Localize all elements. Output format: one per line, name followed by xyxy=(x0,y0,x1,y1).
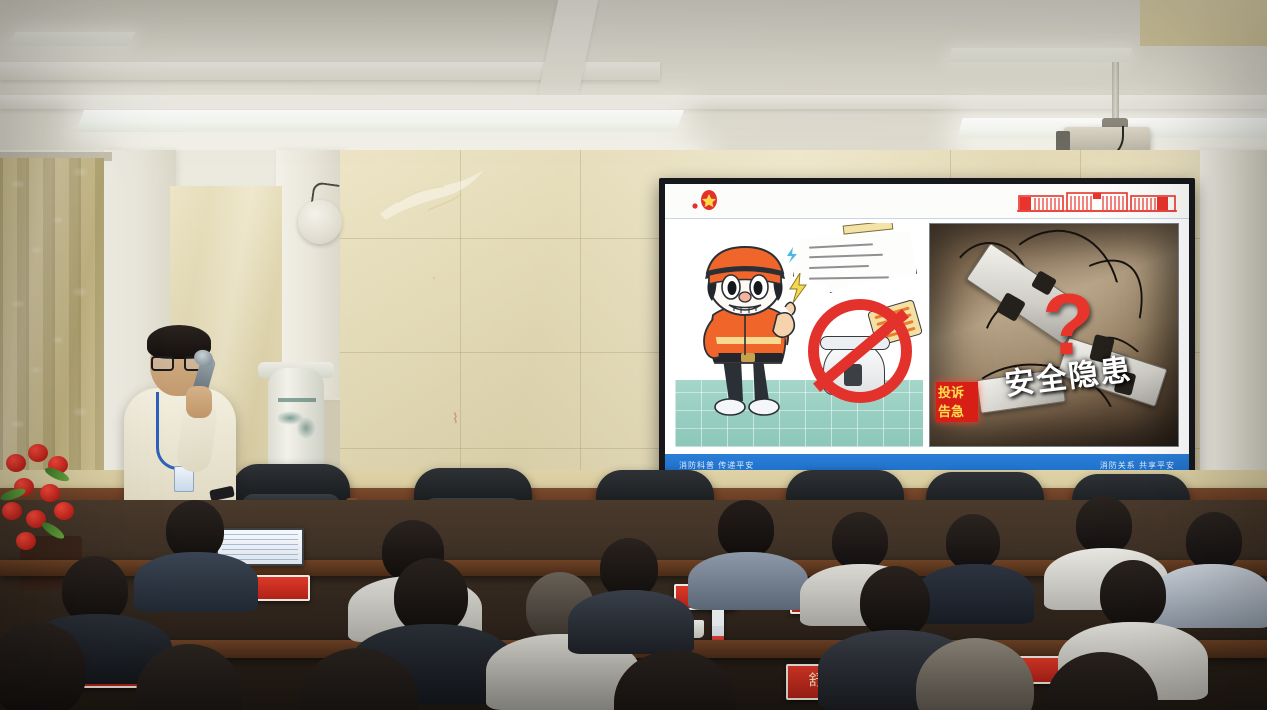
bubble-tab xyxy=(843,223,894,235)
presentation-screen[interactable]: ? 安全隐患 投诉告急 消防科普 传递平安 消防关系 共享平安 xyxy=(659,178,1195,482)
hazard-photo: ? 安全隐患 投诉告急 xyxy=(929,223,1179,447)
lightning-bolt-icon xyxy=(787,273,809,303)
vase-painting xyxy=(278,392,316,446)
party-emblem-icon xyxy=(691,190,719,214)
presenter-hand xyxy=(186,386,212,418)
tv-program-logo: 投诉告急 xyxy=(936,382,978,422)
speech-bubble xyxy=(793,229,917,293)
slide-body: ? 安全隐患 投诉告急 xyxy=(665,219,1189,454)
leaf xyxy=(0,486,27,503)
spark-icon xyxy=(785,247,799,263)
flower xyxy=(28,444,48,462)
wall-scuff: ⌇ xyxy=(452,410,459,427)
ceiling-beam xyxy=(0,95,1267,109)
recessed-linear-light xyxy=(948,48,1133,62)
projector-lens xyxy=(1056,131,1070,151)
projector-pole xyxy=(1112,62,1119,120)
crane-wall-relief-icon xyxy=(372,162,492,232)
wall-speaker xyxy=(298,200,342,244)
wall-pillar xyxy=(1196,150,1267,510)
flower xyxy=(6,454,26,472)
great-hall-building-icon xyxy=(1017,190,1177,214)
ceiling-coffer xyxy=(1140,0,1267,46)
stone-seam xyxy=(580,150,581,498)
flower xyxy=(2,502,22,520)
flower xyxy=(16,532,36,550)
slide: ? 安全隐患 投诉告急 消防科普 传递平安 消防关系 共享平安 xyxy=(665,184,1189,476)
conference-hall-scene: · ⌇ xyxy=(0,0,1267,710)
firefighter-mascot-icon xyxy=(693,241,803,421)
recessed-linear-light xyxy=(8,32,135,46)
slide-top-banner xyxy=(665,184,1189,219)
cartoon-panel xyxy=(675,223,923,447)
recessed-linear-light xyxy=(76,110,684,132)
flower xyxy=(40,484,60,502)
flower xyxy=(54,502,74,520)
wall-scuff: · xyxy=(432,272,436,284)
